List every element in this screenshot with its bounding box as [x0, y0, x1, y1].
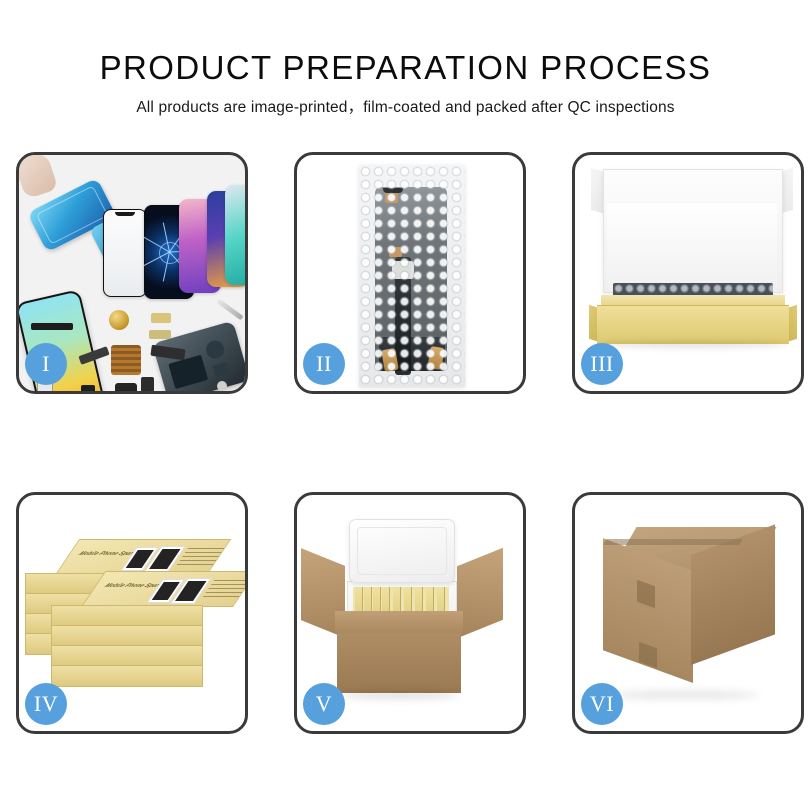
carton-shadow — [341, 691, 459, 699]
button-part-icon — [81, 385, 95, 391]
carton-shadow — [609, 691, 759, 699]
foam-box-lid — [349, 519, 455, 583]
screw-part-icon — [217, 381, 227, 391]
connector-strip-part-icon — [31, 323, 73, 330]
coil-part-icon — [109, 310, 129, 330]
page-subtitle: All products are image-printed，film-coat… — [0, 87, 811, 118]
foam-sheet — [607, 203, 777, 287]
box-lid-face: Mobile Phone Spare Parts — [81, 571, 245, 607]
step-badge: I — [25, 343, 67, 385]
step-panel-6: VI — [572, 492, 804, 734]
step-panel-3: III — [572, 152, 804, 394]
step-panel-2: II — [294, 152, 526, 394]
process-steps-grid: I II — [16, 152, 795, 734]
step-badge: VI — [581, 683, 623, 725]
step-badge: III — [581, 343, 623, 385]
box-spec-lines — [202, 580, 245, 598]
step-panel-5: V — [294, 492, 526, 734]
carton-front-flap — [335, 611, 463, 633]
box-side — [51, 645, 203, 667]
carton-right-flap — [457, 548, 503, 639]
box-side — [51, 665, 203, 687]
page-title: PRODUCT PREPARATION PROCESS — [0, 0, 811, 87]
box-spec-lines — [176, 548, 224, 566]
speaker-part-icon — [115, 383, 137, 391]
teal-phone-icon — [225, 185, 245, 285]
box-front-panel — [597, 305, 789, 344]
header: PRODUCT PREPARATION PROCESS All products… — [0, 0, 811, 118]
box-side — [51, 625, 203, 647]
chip-array-part-icon — [111, 345, 141, 375]
carton-seam — [603, 539, 742, 545]
glass-panel-icon — [103, 209, 147, 297]
sim-tray-part-icon — [149, 330, 171, 339]
step-badge: V — [303, 683, 345, 725]
hand-icon — [19, 155, 58, 199]
step-badge: II — [303, 343, 345, 385]
step-badge: IV — [25, 683, 67, 725]
box-lid-face: Mobile Phone Spare Parts — [55, 539, 231, 575]
box-side — [51, 605, 203, 627]
tweezers-icon — [216, 299, 243, 321]
step-panel-4: Mobile Phone Spare Parts Mobile Phone Sp… — [16, 492, 248, 734]
bubble-texture — [359, 165, 465, 387]
camera-part-icon — [141, 377, 154, 391]
box-shadow — [599, 341, 787, 348]
product-preparation-infographic: PRODUCT PREPARATION PROCESS All products… — [0, 0, 811, 811]
bubble-wrap-bag — [359, 165, 465, 387]
step-panel-1: I — [16, 152, 248, 394]
sim-tray-part-icon — [151, 313, 171, 323]
